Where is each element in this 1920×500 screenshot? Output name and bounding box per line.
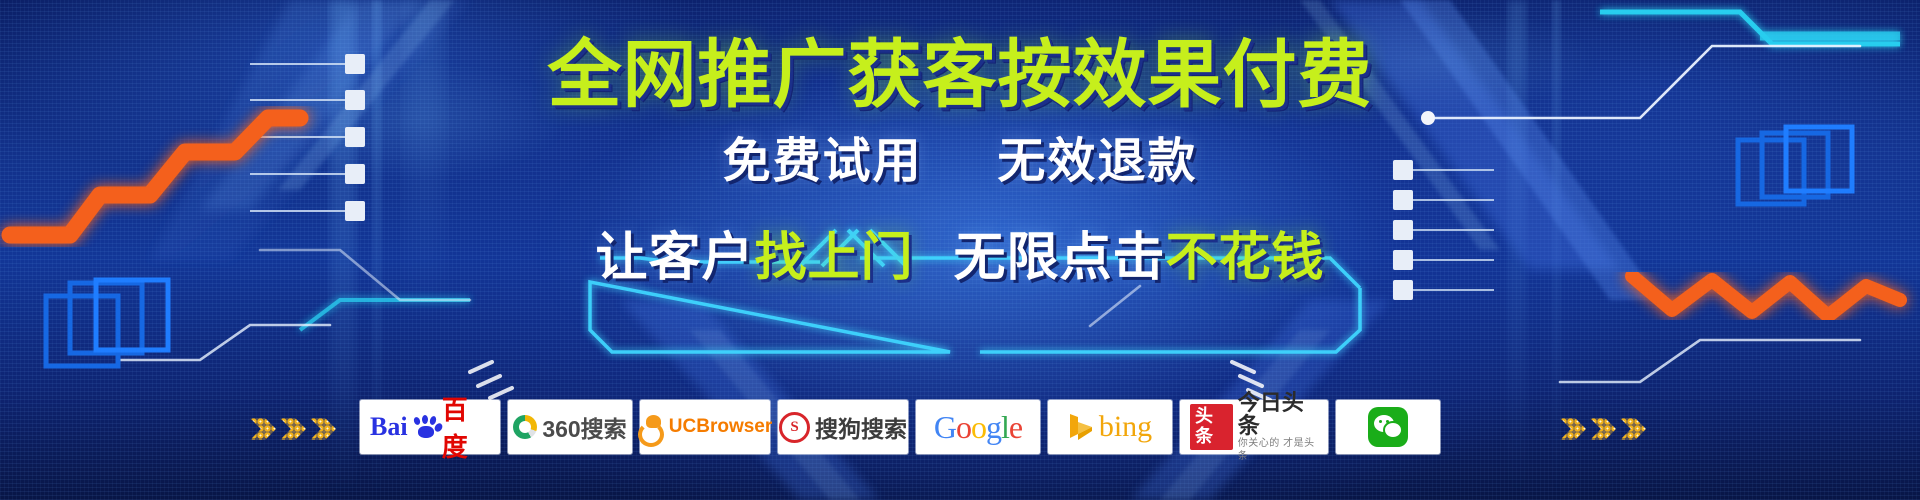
google-wordmark-icon: Google [934,409,1022,446]
promo-banner: 全网推广获客按效果付费 免费试用 无效退款 让客户找上门无限点击不花钱 Bai [0,0,1920,500]
chevron-right-icon [310,418,336,440]
sogou-s-icon: S [779,412,810,443]
partner-logo-baidu[interactable]: Bai 百度 [360,400,500,454]
partner-logo-row: Bai 百度 360搜索 UCBrowser S 搜狗搜索 Goog [360,400,1440,454]
chevron-right-icon [280,418,306,440]
chevron-right-icon [1560,418,1586,440]
orange-falling-zigzag-icon [1632,276,1900,316]
uc-squirrel-icon [638,415,664,439]
360-label: 360搜索 [542,410,626,444]
baidu-paw-icon [413,415,437,439]
dash-accents [470,362,1270,400]
chevron-right-icon [1590,418,1616,440]
uc-label: UCBrowser [669,416,772,438]
right-rect-cluster [1738,127,1852,204]
orange-rising-zigzag-icon [10,118,300,235]
360-ring-icon [513,415,537,439]
bing-b-icon [1068,412,1094,442]
partner-logo-360[interactable]: 360搜索 [508,400,632,454]
toutiao-badge-icon: 头条 [1190,404,1233,450]
partner-logo-toutiao[interactable]: 头条 今日头条 你关心的 才是头条 [1180,400,1328,454]
sogou-label: 搜狗搜索 [815,410,907,444]
left-rect-cluster [46,280,168,366]
partner-logo-wechat[interactable] [1336,400,1440,454]
chevron-right-icon [250,418,276,440]
wechat-bubbles-icon [1368,407,1408,447]
baidu-latin-1: Bai [370,412,408,442]
toutiao-tagline: 你关心的 才是头条 [1238,437,1318,463]
toutiao-text-block: 今日头条 你关心的 才是头条 [1238,391,1318,463]
partner-logo-sogou[interactable]: S 搜狗搜索 [778,400,908,454]
chevrons-right [1560,418,1646,440]
baidu-cn-label: 百度 [442,390,490,464]
toutiao-label: 今日头条 [1238,391,1318,437]
partner-logo-bing[interactable]: bing [1048,400,1172,454]
chevron-right-icon [1620,418,1646,440]
headline-frame [590,230,1360,352]
partner-logo-google[interactable]: Google [916,400,1040,454]
bing-label: bing [1099,410,1152,444]
partner-logo-uc[interactable]: UCBrowser [640,400,770,454]
left-tick-marks [250,54,365,221]
chevrons-left [250,418,336,440]
right-tick-marks [1393,160,1494,300]
